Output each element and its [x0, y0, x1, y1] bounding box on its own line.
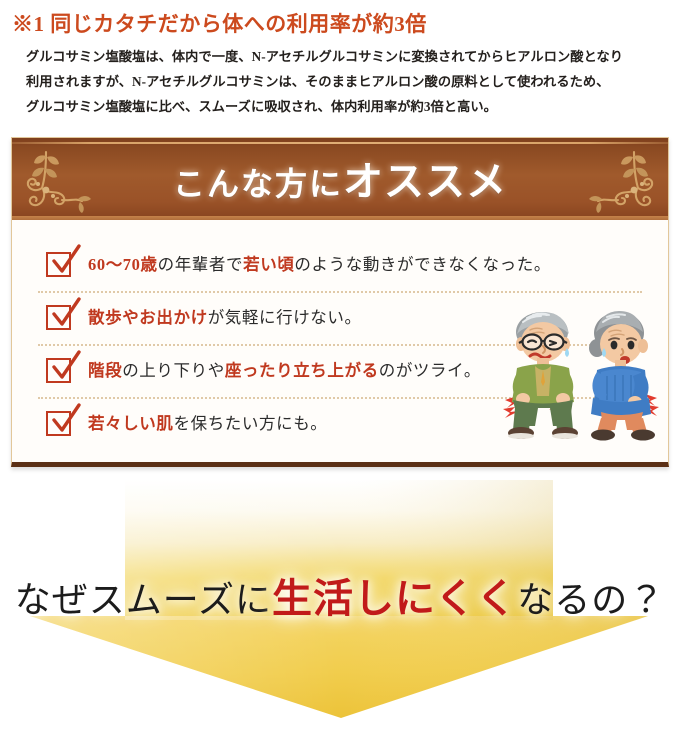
list-item[interactable]: 60〜70歳の年輩者で若い頃のような動きができなくなった。: [12, 238, 668, 291]
card-banner: こんな方にオススメ: [12, 138, 668, 220]
plain-text: の年輩者で: [158, 255, 244, 274]
list-item-label: 階段の上り下りや座ったり立ち上がるのがツライ。: [88, 361, 481, 381]
recommendation-list: 60〜70歳の年輩者で若い頃のような動きができなくなった。散歩やお出かけが気軽に…: [12, 220, 668, 450]
banner-title-emphasis: オススメ: [343, 160, 507, 204]
list-item-label: 散歩やお出かけが気軽に行けない。: [88, 308, 362, 328]
highlighted-text: 若々しい肌: [88, 414, 174, 433]
intro-line-3: グルコサミン塩酸塩に比べ、スムーズに吸収され、体内利用率が約3倍と高い。: [26, 94, 662, 119]
arrow-section: なぜスムーズに生活しにくくなるの？: [0, 480, 680, 734]
plain-text: のがツライ。: [379, 361, 481, 380]
plain-text: なぜスムーズに: [15, 580, 272, 620]
list-item[interactable]: 若々しい肌を保ちたい方にも。: [12, 397, 668, 450]
intro-line-2: 利用されますが、N-アセチルグルコサミンは、そのままヒアルロン酸の原料として使わ…: [26, 69, 662, 94]
arrow-caption: なぜスムーズに生活しにくくなるの？: [0, 566, 680, 624]
plain-text: の上り下りや: [122, 361, 225, 380]
highlighted-text: 散歩やお出かけ: [88, 308, 208, 327]
list-item-label: 60〜70歳の年輩者で若い頃のような動きができなくなった。: [88, 255, 551, 275]
intro-line-1: グルコサミン塩酸塩は、体内で一度、N-アセチルグルコサミンに変換されてからヒアル…: [26, 44, 662, 69]
floral-ornament-icon: [572, 144, 664, 216]
advertisement-page: ※1 同じカタチだから体への利用率が約3倍 グルコサミン塩酸塩は、体内で一度、N…: [0, 0, 680, 734]
list-item[interactable]: 散歩やお出かけが気軽に行けない。: [12, 291, 668, 344]
checkbox-checked-icon[interactable]: [46, 358, 71, 383]
list-item-label: 若々しい肌を保ちたい方にも。: [88, 414, 327, 434]
highlighted-text: 座ったり立ち上がる: [225, 361, 379, 380]
plain-text: が気軽に行けない。: [208, 308, 362, 327]
checkbox-checked-icon[interactable]: [46, 305, 71, 330]
highlighted-text: 階段: [88, 361, 122, 380]
checkbox-checked-icon[interactable]: [46, 252, 71, 277]
plain-text: のような動きができなくなった。: [294, 255, 551, 274]
checkbox-checked-icon[interactable]: [46, 411, 71, 436]
plain-text: を保ちたい方にも。: [174, 414, 328, 433]
banner-title-normal: こんな方に: [173, 166, 343, 202]
highlighted-text: 60〜70歳: [88, 255, 158, 274]
plain-text: なるの？: [517, 580, 665, 620]
list-item[interactable]: 階段の上り下りや座ったり立ち上がるのがツライ。: [12, 344, 668, 397]
banner-title: こんな方にオススメ: [12, 149, 668, 207]
highlighted-text: 生活しにくく: [272, 576, 517, 621]
highlighted-text: 若い頃: [243, 255, 294, 274]
recommendation-card: こんな方にオススメ: [11, 137, 669, 467]
page-title: ※1 同じカタチだから体への利用率が約3倍: [12, 8, 427, 38]
intro-paragraph: グルコサミン塩酸塩は、体内で一度、N-アセチルグルコサミンに変換されてからヒアル…: [26, 44, 662, 119]
